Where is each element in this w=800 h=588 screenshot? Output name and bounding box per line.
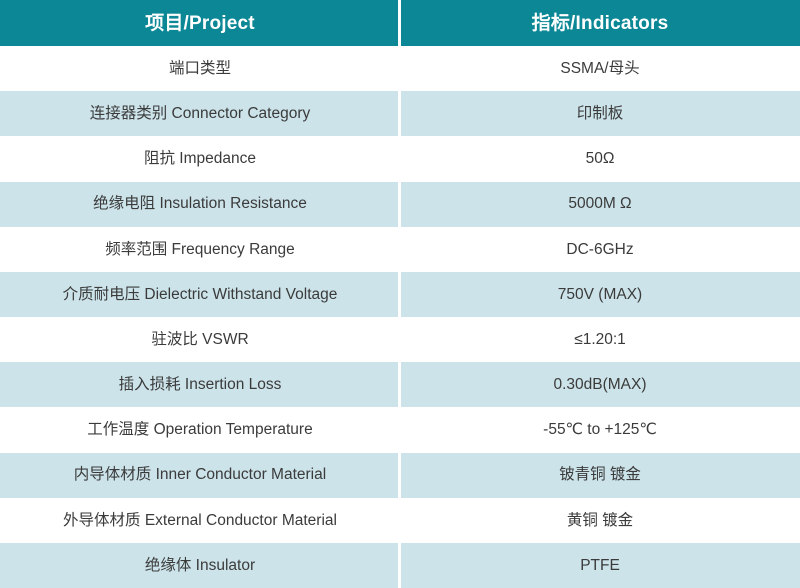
table-row: 阻抗 Impedance50Ω — [0, 136, 800, 181]
cell-project: 频率范围 Frequency Range — [0, 227, 400, 272]
table-body: 端口类型SSMA/母头连接器类别 Connector Category印制板阻抗… — [0, 46, 800, 588]
column-header-project: 项目/Project — [0, 0, 400, 46]
table-row: 绝缘体 InsulatorPTFE — [0, 543, 800, 588]
header-column-divider — [398, 0, 401, 46]
cell-indicator: 750V (MAX) — [400, 272, 800, 317]
cell-indicator: 印制板 — [400, 91, 800, 136]
table-row: 工作温度 Operation Temperature-55℃ to +125℃ — [0, 407, 800, 452]
table-header-row: 项目/Project 指标/Indicators — [0, 0, 800, 46]
column-header-indicators: 指标/Indicators — [400, 0, 800, 46]
cell-indicator: SSMA/母头 — [400, 46, 800, 91]
cell-indicator: 50Ω — [400, 136, 800, 181]
cell-indicator: DC-6GHz — [400, 227, 800, 272]
table-row: 外导体材质 External Conductor Material黄铜 镀金 — [0, 498, 800, 543]
cell-indicator: -55℃ to +125℃ — [400, 407, 800, 452]
table-row: 驻波比 VSWR≤1.20:1 — [0, 317, 800, 362]
cell-indicator: 5000M Ω — [400, 182, 800, 227]
table-row: 插入损耗 Insertion Loss0.30dB(MAX) — [0, 362, 800, 407]
specification-table: 项目/Project 指标/Indicators 端口类型SSMA/母头连接器类… — [0, 0, 800, 588]
cell-project: 外导体材质 External Conductor Material — [0, 498, 400, 543]
cell-indicator: 黄铜 镀金 — [400, 498, 800, 543]
cell-project: 绝缘电阻 Insulation Resistance — [0, 182, 400, 227]
cell-indicator: 铍青铜 镀金 — [400, 453, 800, 498]
cell-project: 插入损耗 Insertion Loss — [0, 362, 400, 407]
table-row: 频率范围 Frequency RangeDC-6GHz — [0, 227, 800, 272]
cell-indicator: PTFE — [400, 543, 800, 588]
table-row: 端口类型SSMA/母头 — [0, 46, 800, 91]
cell-project: 内导体材质 Inner Conductor Material — [0, 453, 400, 498]
cell-project: 连接器类别 Connector Category — [0, 91, 400, 136]
cell-project: 工作温度 Operation Temperature — [0, 407, 400, 452]
cell-indicator: ≤1.20:1 — [400, 317, 800, 362]
table-row: 绝缘电阻 Insulation Resistance5000M Ω — [0, 182, 800, 227]
cell-project: 介质耐电压 Dielectric Withstand Voltage — [0, 272, 400, 317]
cell-project: 绝缘体 Insulator — [0, 543, 400, 588]
table-row: 内导体材质 Inner Conductor Material铍青铜 镀金 — [0, 453, 800, 498]
cell-project: 阻抗 Impedance — [0, 136, 400, 181]
cell-project: 驻波比 VSWR — [0, 317, 400, 362]
table-row: 介质耐电压 Dielectric Withstand Voltage750V (… — [0, 272, 800, 317]
table-row: 连接器类别 Connector Category印制板 — [0, 91, 800, 136]
cell-indicator: 0.30dB(MAX) — [400, 362, 800, 407]
cell-project: 端口类型 — [0, 46, 400, 91]
